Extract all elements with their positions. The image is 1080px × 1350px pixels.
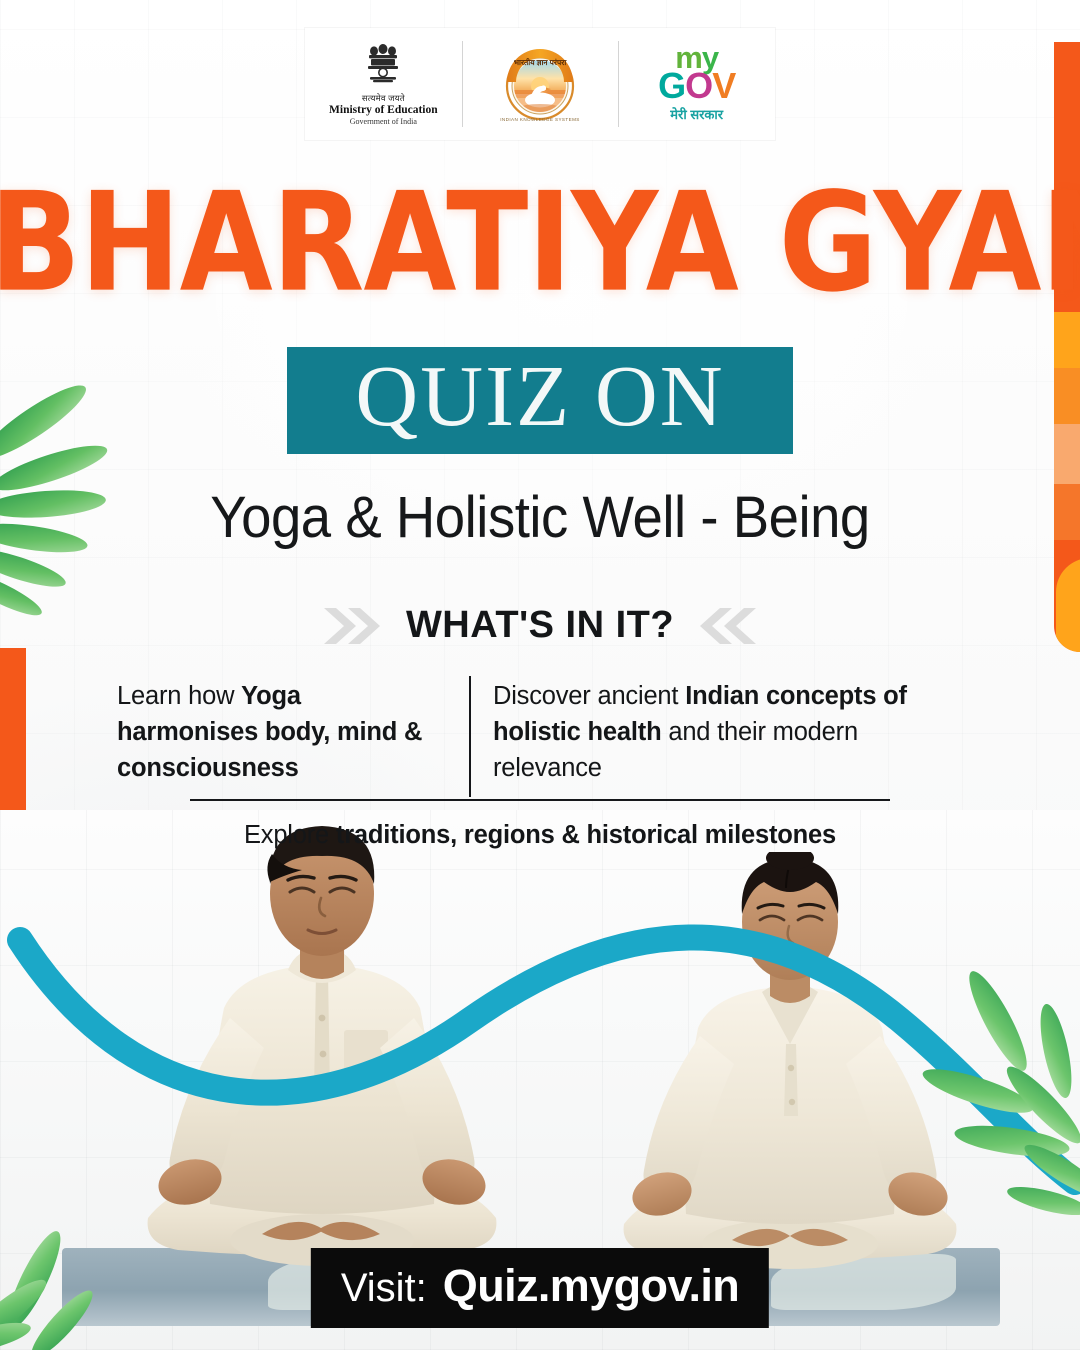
benefit-third-bold: traditions, regions & historical milesto… [336, 821, 836, 849]
fern-leaf-icon [0, 1212, 126, 1350]
benefits-divider [190, 799, 890, 802]
benefit-right: Discover ancient Indian concepts of holi… [469, 676, 985, 797]
page-title: BHARATIYA GYAN [0, 176, 1080, 309]
benefit-right-normal-1: Discover ancient [493, 682, 685, 710]
benefit-third-normal: Explore [244, 821, 336, 849]
mygov-logo: my GOV मेरी सरकार [618, 28, 775, 140]
visit-label: Visit: [341, 1266, 427, 1311]
ashoka-emblem-icon [361, 42, 405, 92]
iks-logo: भारतीय ज्ञान परंपरा INDIAN KNOWLEDGE SYS… [462, 28, 619, 140]
double-chevron-right-icon [322, 605, 384, 647]
benefit-third: Explore traditions, regions & historical… [244, 821, 836, 850]
whats-in-it-header: WHAT'S IN IT? [0, 604, 1080, 647]
ministry-of-education-logo: सत्यमेव जयते Ministry of Education Gover… [305, 28, 462, 140]
mygov-gov-text: GOV [658, 71, 735, 102]
poster-root: सत्यमेव जयते Ministry of Education Gover… [0, 0, 1080, 1350]
double-chevron-left-icon [696, 605, 758, 647]
benefit-left: Learn how Yoga harmonises body, mind & c… [95, 676, 469, 797]
quiz-on-banner: QUIZ ON [287, 347, 793, 454]
ministry-motto: सत्यमेव जयते [362, 93, 405, 104]
mygov-hindi-text: मेरी सरकार [670, 105, 723, 123]
svg-text:भारतीय ज्ञान परंपरा: भारतीय ज्ञान परंपरा [514, 58, 568, 67]
ministry-subtitle: Government of India [350, 117, 417, 127]
indian-knowledge-systems-seal-icon: भारतीय ज्ञान परंपरा INDIAN KNOWLEDGE SYS… [498, 42, 582, 126]
benefits-row: Learn how Yoga harmonises body, mind & c… [95, 676, 985, 797]
benefits-section: Learn how Yoga harmonises body, mind & c… [0, 676, 1080, 850]
fern-leaf-icon [916, 955, 1080, 1225]
ministry-name: Ministry of Education [329, 104, 438, 117]
benefit-left-normal: Learn how [117, 682, 241, 710]
stripe-band [1054, 424, 1080, 484]
whats-in-it-label: WHAT'S IN IT? [406, 604, 674, 647]
leaf-cluster-right [916, 955, 1080, 1230]
visit-banner[interactable]: Visit: Quiz.mygov.in [311, 1248, 769, 1328]
leaf-cluster-bottom-left [0, 1212, 126, 1350]
stripe-band [1054, 484, 1080, 540]
visit-url[interactable]: Quiz.mygov.in [443, 1260, 739, 1312]
stripe-band [1054, 368, 1080, 424]
logo-bar: सत्यमेव जयते Ministry of Education Gover… [305, 28, 775, 140]
svg-text:INDIAN KNOWLEDGE SYSTEMS: INDIAN KNOWLEDGE SYSTEMS [500, 117, 580, 122]
page-subtitle: Yoga & Holistic Well - Being [32, 484, 1047, 551]
quiz-on-label: QUIZ ON [327, 352, 753, 441]
